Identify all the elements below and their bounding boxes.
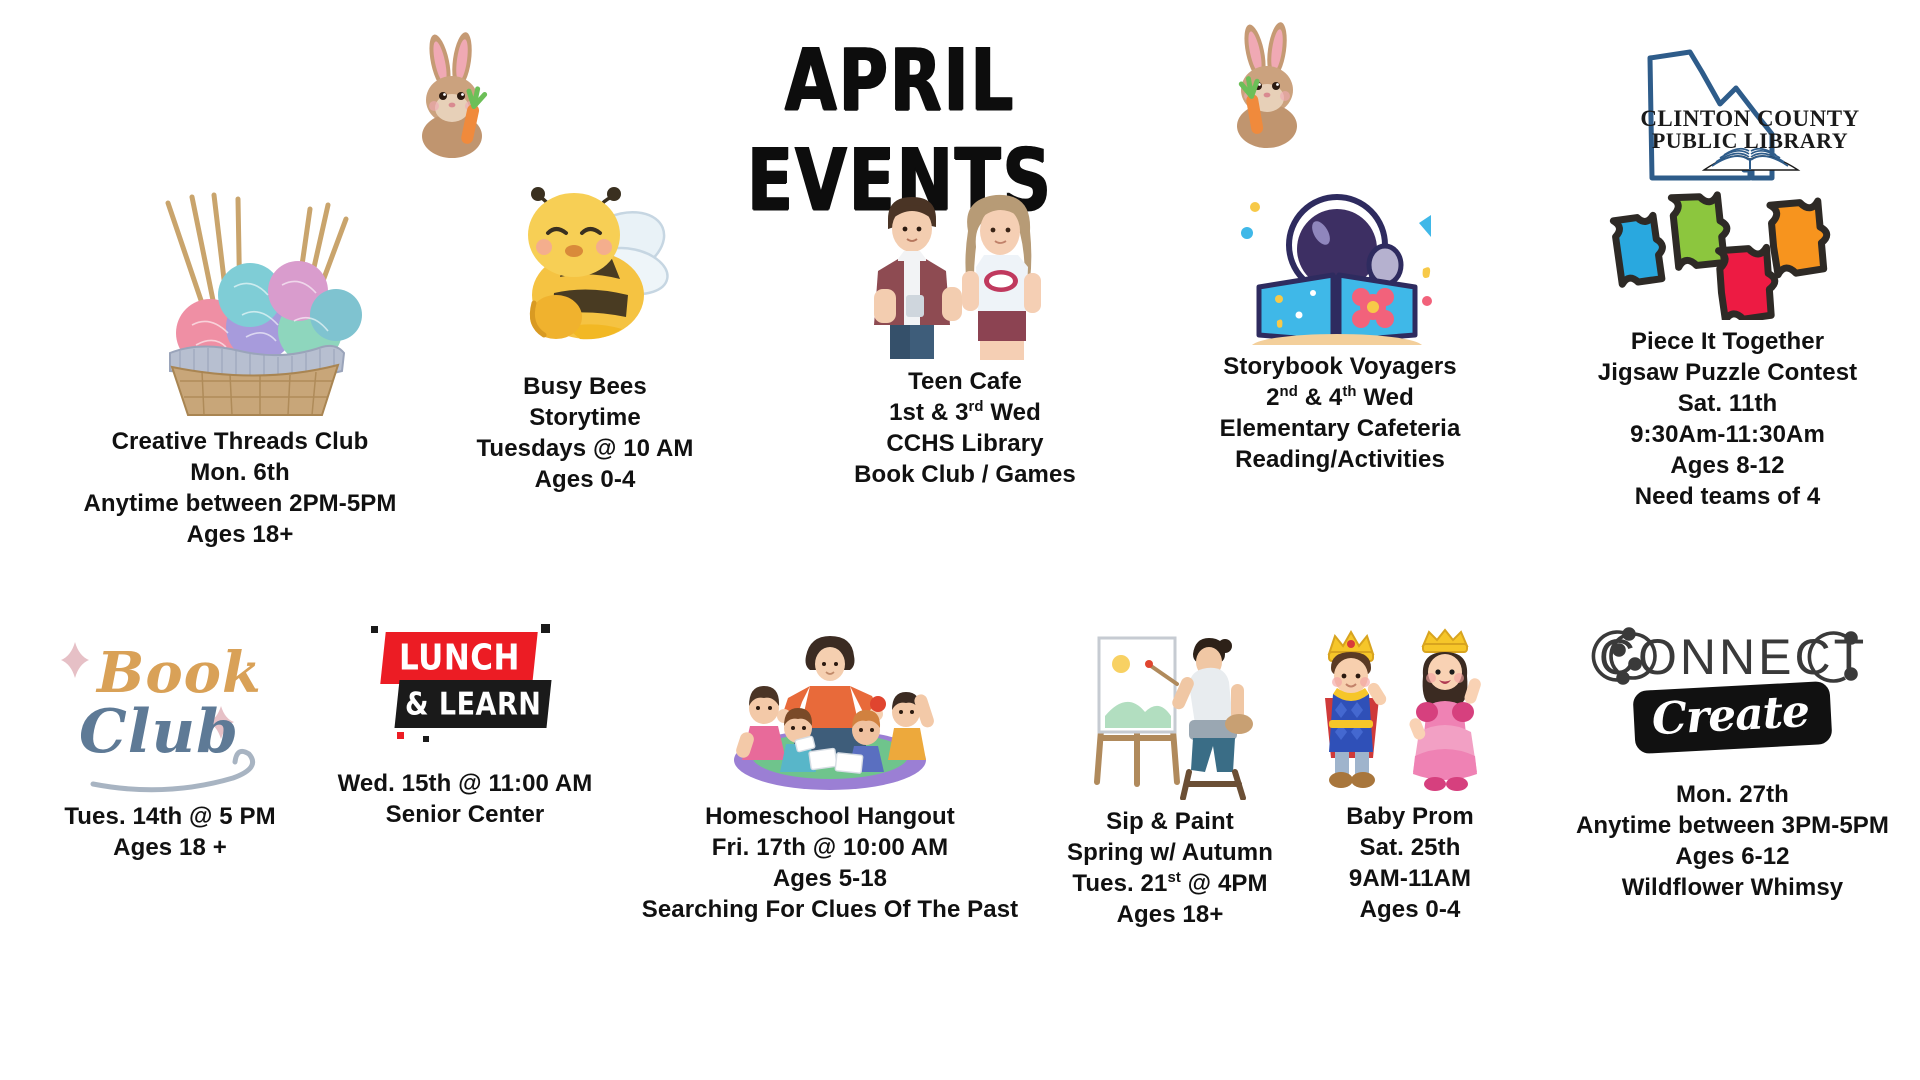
- event-card-lunch-and-learn[interactable]: LUNCH & LEARN Wed. 15th @ 11:00 AM Senio…: [310, 620, 620, 830]
- event-line: Tuesdays @ 10 AM: [395, 433, 775, 464]
- event-line: Ages 18+: [1040, 899, 1300, 930]
- flyer-header: APRIL EVENTS: [0, 0, 1920, 195]
- honey-bee-icon: [470, 175, 700, 365]
- connect-create-logo: CONNECT Create: [1583, 620, 1883, 765]
- event-text-block: Creative Threads Club Mon. 6th Anytime b…: [30, 426, 450, 550]
- event-card-baby-prom[interactable]: Baby Prom Sat. 25th 9AM-11AM Ages 0-4: [1290, 620, 1530, 925]
- event-line: Anytime between 3PM-5PM: [1545, 810, 1920, 841]
- event-line: Sat. 11th: [1535, 388, 1920, 419]
- event-line: Busy Bees: [395, 371, 775, 402]
- event-line: Mon. 27th: [1545, 779, 1920, 810]
- event-line: Elementary Cafeteria: [1150, 413, 1530, 444]
- event-line: Tues. 14th @ 5 PM: [10, 801, 330, 832]
- bunny-with-carrot-icon: [1215, 18, 1325, 148]
- event-line: Piece It Together: [1535, 326, 1920, 357]
- astronaut-reading-book-icon: [1233, 175, 1448, 345]
- dot-decoration: [541, 624, 550, 633]
- event-text-block: Baby Prom Sat. 25th 9AM-11AM Ages 0-4: [1290, 801, 1530, 925]
- event-line: Book Club / Games: [790, 459, 1140, 490]
- event-line: Jigsaw Puzzle Contest: [1535, 357, 1920, 388]
- event-text-block: Teen Cafe 1st & 3rd Wed CCHS Library Boo…: [790, 366, 1140, 490]
- event-text-block: Tues. 14th @ 5 PM Ages 18 +: [10, 801, 330, 863]
- event-line: Storytime: [395, 402, 775, 433]
- dot-decoration: [397, 732, 404, 739]
- event-line: CCHS Library: [790, 428, 1140, 459]
- event-card-busy-bees-storytime[interactable]: Busy Bees Storytime Tuesdays @ 10 AM Age…: [395, 175, 775, 495]
- event-line: Storybook Voyagers: [1150, 351, 1530, 382]
- event-line: Wildflower Whimsy: [1545, 872, 1920, 903]
- event-line: Ages 18 +: [10, 832, 330, 863]
- event-line: Spring w/ Autumn: [1040, 837, 1300, 868]
- jigsaw-puzzle-pieces-icon: [1603, 175, 1853, 320]
- prince-and-princess-icon: [1315, 620, 1505, 795]
- event-line: 9AM-11AM: [1290, 863, 1530, 894]
- event-line: Need teams of 4: [1535, 481, 1920, 512]
- event-line: Wed. 15th @ 11:00 AM: [310, 768, 620, 799]
- event-line: Homeschool Hangout: [620, 801, 1040, 832]
- event-line: Senior Center: [310, 799, 620, 830]
- event-line: Ages 0-4: [1290, 894, 1530, 925]
- event-line: Anytime between 2PM-5PM: [30, 488, 450, 519]
- event-line: 2nd & 4th Wed: [1150, 382, 1530, 413]
- yarn-basket-icon: [110, 175, 370, 420]
- two-teens-icon: [850, 175, 1080, 360]
- event-line: Ages 18+: [30, 519, 450, 550]
- bunny-with-carrot-icon: [400, 28, 510, 158]
- event-line: Ages 5-18: [620, 863, 1040, 894]
- event-text-block: Sip & Paint Spring w/ Autumn Tues. 21st …: [1040, 806, 1300, 930]
- dot-decoration: [529, 648, 535, 654]
- children-group-activity-icon: [710, 620, 950, 795]
- book-club-script-logo: Book Club: [45, 620, 295, 795]
- event-text-block: Storybook Voyagers 2nd & 4th Wed Element…: [1150, 351, 1530, 475]
- event-card-storybook-voyagers[interactable]: Storybook Voyagers 2nd & 4th Wed Element…: [1150, 175, 1530, 475]
- event-line: 9:30Am-11:30Am: [1535, 419, 1920, 450]
- event-text-block: Piece It Together Jigsaw Puzzle Contest …: [1535, 326, 1920, 512]
- event-line: Mon. 6th: [30, 457, 450, 488]
- event-line: Tues. 21st @ 4PM: [1040, 868, 1300, 899]
- events-row-1: Creative Threads Club Mon. 6th Anytime b…: [0, 175, 1920, 605]
- lunch-word: LUNCH: [399, 637, 520, 678]
- event-text-block: Wed. 15th @ 11:00 AM Senior Center: [310, 768, 620, 830]
- events-row-2: Book Club Tues. 14th @ 5 PM Ages 18 + LU…: [0, 620, 1920, 1060]
- dot-decoration: [423, 736, 429, 742]
- connect-word: CONNECT: [1598, 629, 1866, 685]
- logo-line-2: PUBLIC LIBRARY: [1652, 128, 1848, 153]
- event-line: Baby Prom: [1290, 801, 1530, 832]
- event-card-teen-cafe[interactable]: Teen Cafe 1st & 3rd Wed CCHS Library Boo…: [790, 175, 1140, 490]
- book-club-word-2: Club: [79, 697, 239, 767]
- library-logo: CLINTON COUNTY PUBLIC LIBRARY: [1632, 30, 1872, 185]
- event-line: Teen Cafe: [790, 366, 1140, 397]
- event-line: 1st & 3rd Wed: [790, 397, 1140, 428]
- event-line: Creative Threads Club: [30, 426, 450, 457]
- event-line: Reading/Activities: [1150, 444, 1530, 475]
- create-word: Create: [1632, 681, 1832, 754]
- event-card-piece-it-together[interactable]: Piece It Together Jigsaw Puzzle Contest …: [1535, 175, 1920, 512]
- event-card-creative-threads-club[interactable]: Creative Threads Club Mon. 6th Anytime b…: [30, 175, 450, 550]
- event-card-book-club[interactable]: Book Club Tues. 14th @ 5 PM Ages 18 +: [10, 620, 330, 863]
- learn-word: & LEARN: [405, 686, 541, 722]
- event-line: Ages 8-12: [1535, 450, 1920, 481]
- learn-banner: & LEARN: [394, 680, 551, 728]
- woman-painting-easel-icon: [1085, 620, 1255, 800]
- lunch-and-learn-banner-logo: LUNCH & LEARN: [365, 620, 565, 750]
- event-line: Ages 6-12: [1545, 841, 1920, 872]
- lunch-banner: LUNCH: [380, 632, 537, 684]
- event-line: Sip & Paint: [1040, 806, 1300, 837]
- event-text-block: Mon. 27th Anytime between 3PM-5PM Ages 6…: [1545, 779, 1920, 903]
- event-line: Fri. 17th @ 10:00 AM: [620, 832, 1040, 863]
- event-card-sip-and-paint[interactable]: Sip & Paint Spring w/ Autumn Tues. 21st …: [1040, 620, 1300, 930]
- event-text-block: Homeschool Hangout Fri. 17th @ 10:00 AM …: [620, 801, 1040, 925]
- event-text-block: Busy Bees Storytime Tuesdays @ 10 AM Age…: [395, 371, 775, 495]
- event-card-connect-create[interactable]: CONNECT Create Mon. 27th Anytime between…: [1545, 620, 1920, 903]
- dot-decoration: [371, 626, 378, 633]
- event-line: Searching For Clues Of The Past: [620, 894, 1040, 925]
- event-line: Sat. 25th: [1290, 832, 1530, 863]
- event-card-homeschool-hangout[interactable]: Homeschool Hangout Fri. 17th @ 10:00 AM …: [620, 620, 1040, 925]
- event-line: Ages 0-4: [395, 464, 775, 495]
- april-events-flyer: APRIL EVENTS: [0, 0, 1920, 1080]
